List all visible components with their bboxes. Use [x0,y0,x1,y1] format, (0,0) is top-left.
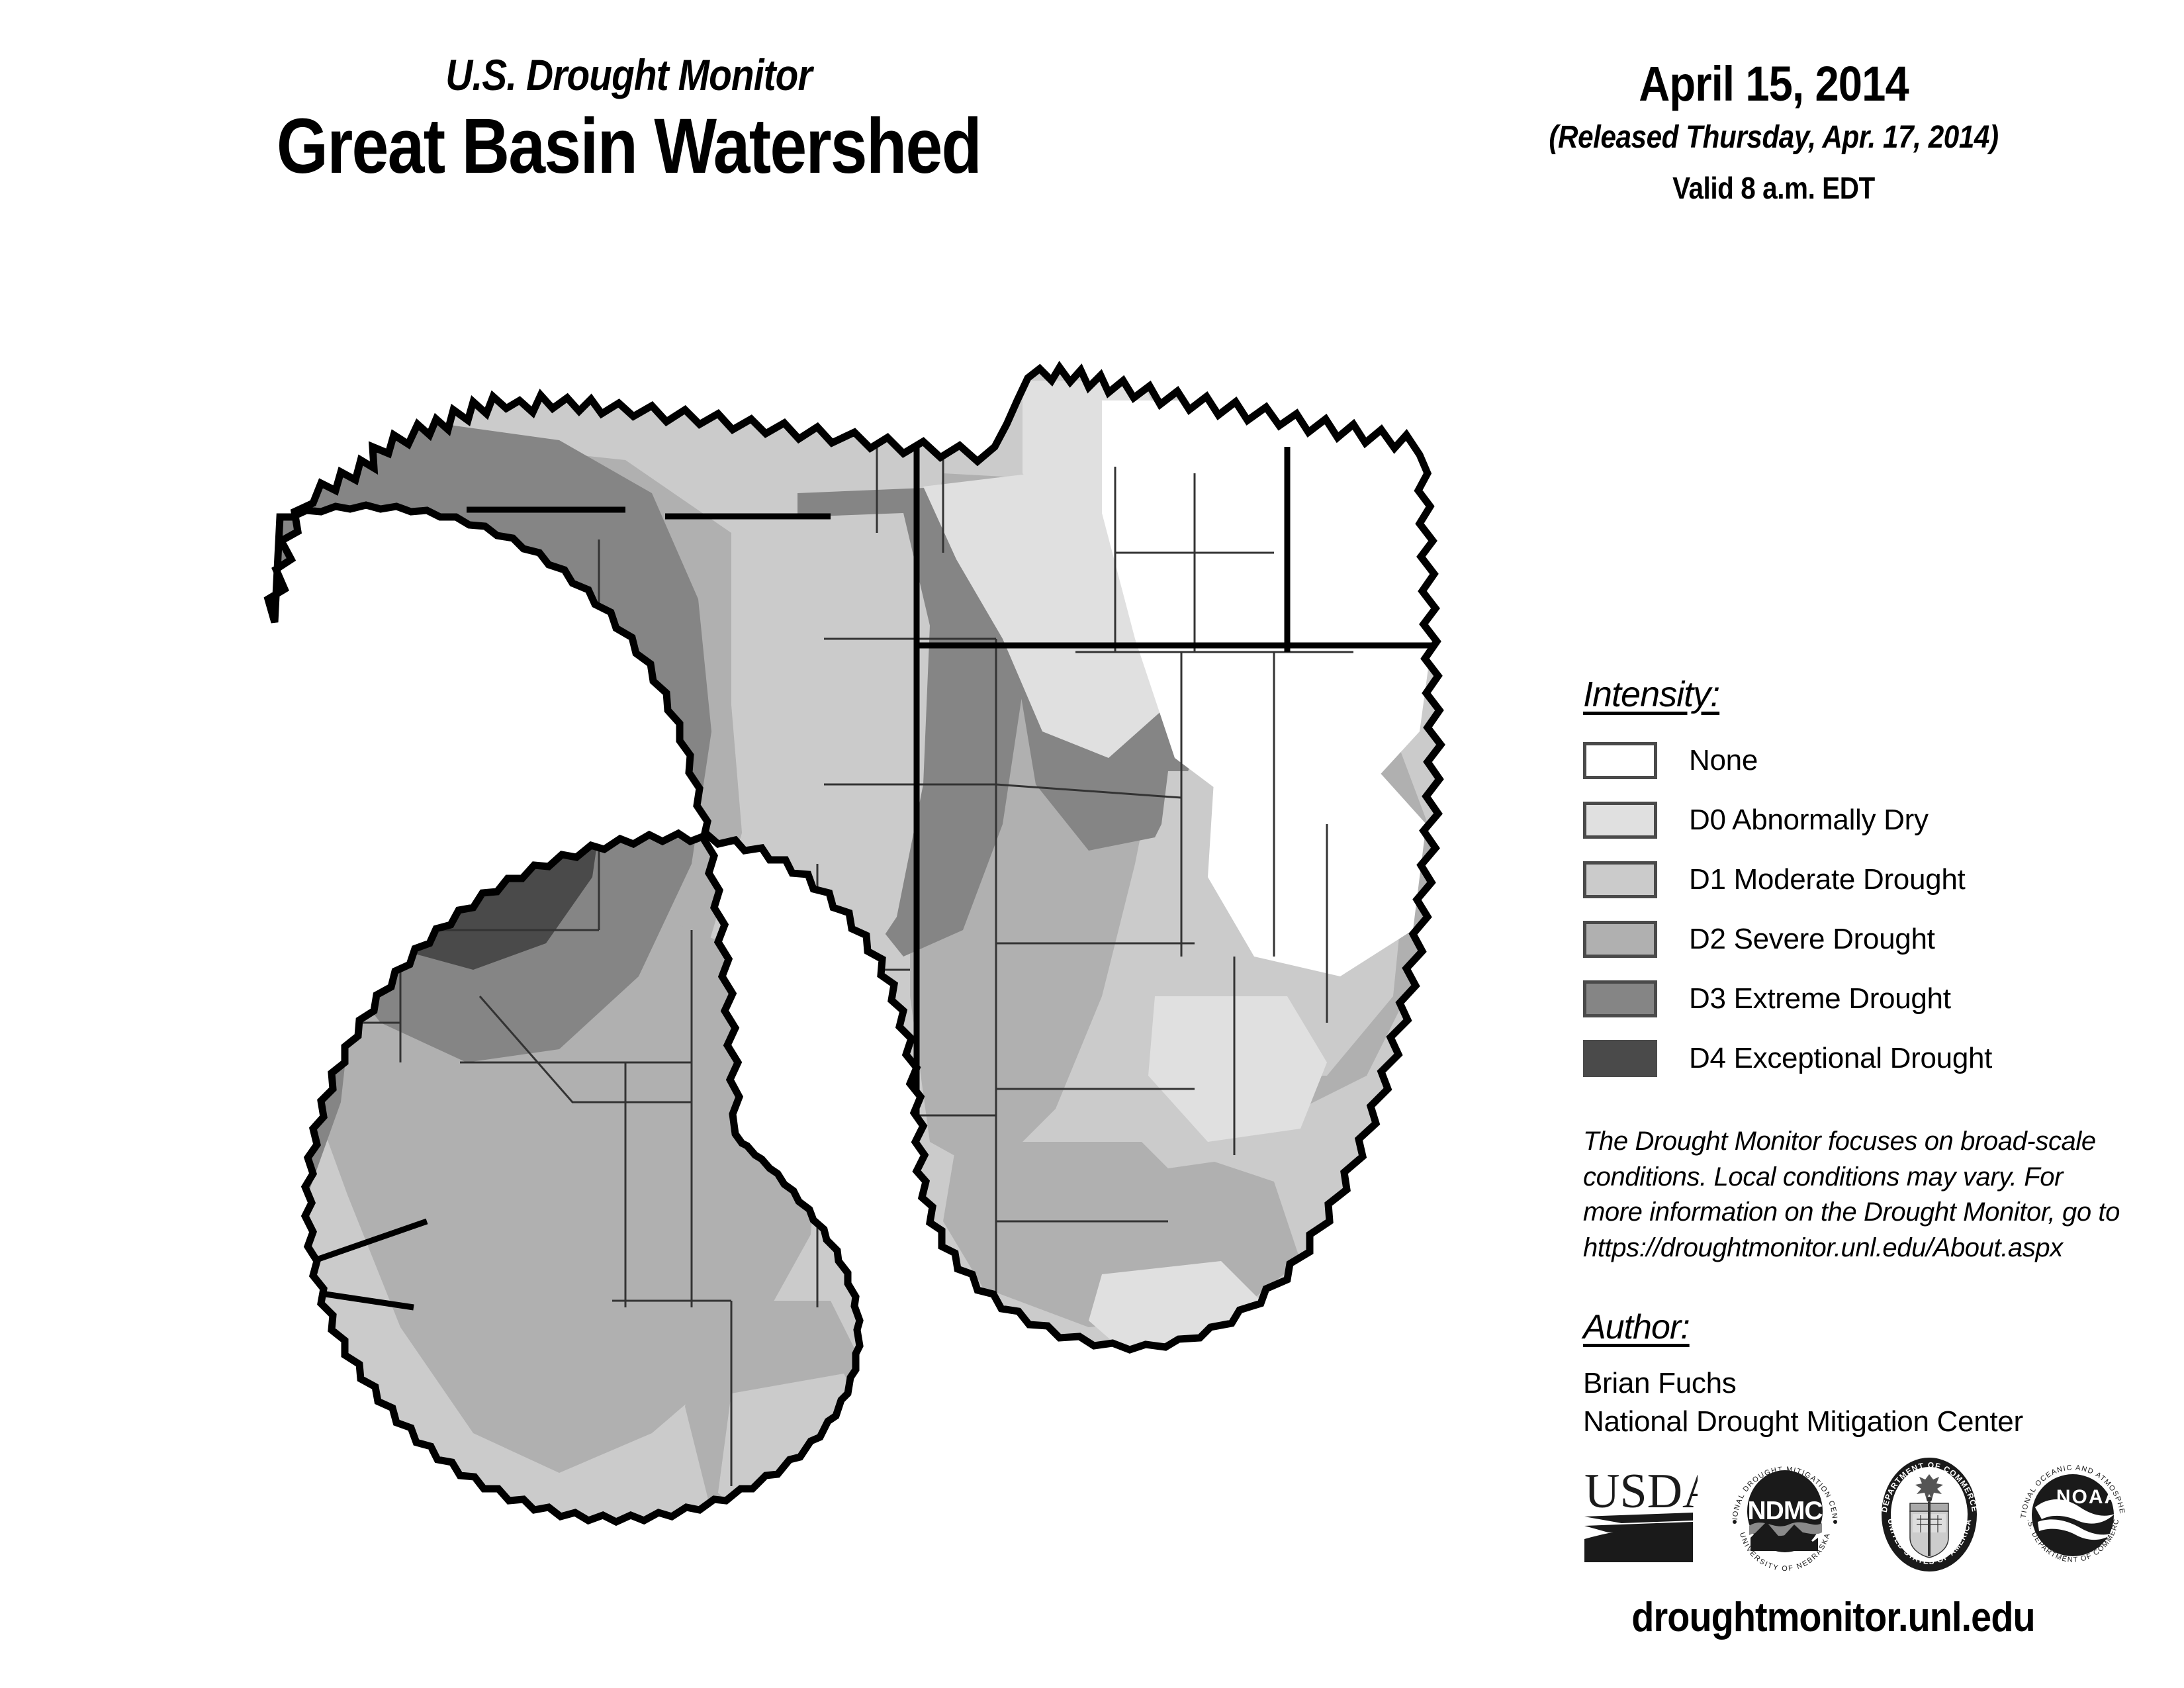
usda-logo-text: USDA [1584,1464,1698,1519]
legend-swatch-d2 [1583,921,1657,958]
svg-text:★: ★ [1958,1511,1967,1522]
ndmc-logo: NDMC NATIONAL DROUGHT MITIGATION CENTER … [1725,1456,1844,1577]
header-date-block: April 15, 2014 (Released Thursday, Apr. … [1443,58,2105,206]
legend-swatch-d1 [1583,861,1657,898]
legend-label-d1: D1 Moderate Drought [1689,863,1965,896]
release-date: (Released Thursday, Apr. 17, 2014) [1482,119,2065,156]
svg-text:★: ★ [1893,1511,1901,1522]
drought-monitor-subtitle: U.S. Drought Monitor [88,53,1169,97]
legend-swatch-none [1583,742,1657,779]
ndmc-logo-text: NDMC [1747,1497,1823,1525]
logo-row: USDA NDMC NATIONAL DROUGHT MITIGATION CE… [1582,1450,2131,1582]
drought-map[interactable] [162,361,1479,1546]
usda-logo: USDA [1582,1460,1698,1572]
legend-item-d4[interactable]: D4 Exceptional Drought [1583,1035,2113,1082]
legend-item-none[interactable]: None [1583,737,2113,784]
noaa-logo: NOAA NATIONAL OCEANIC AND ATMOSPHERIC U.… [2015,1456,2131,1577]
map-date: April 15, 2014 [1482,58,2065,110]
footer-url[interactable]: droughtmonitor.unl.edu [1571,1594,2095,1641]
legend-swatch-d0 [1583,802,1657,839]
header-title-block: U.S. Drought Monitor Great Basin Watersh… [0,53,1257,188]
author-name: Brian Fuchs [1583,1364,2126,1403]
legend-item-d0[interactable]: D0 Abnormally Dry [1583,797,2113,843]
legend-label-d3: D3 Extreme Drought [1689,982,1951,1015]
legend-label-d2: D2 Severe Drought [1689,923,1935,956]
author-heading: Author: [1583,1307,1690,1347]
legend-label-d0: D0 Abnormally Dry [1689,804,1929,837]
author-block: Author: Brian Fuchs National Drought Mit… [1583,1307,2126,1441]
legend-item-d2[interactable]: D2 Severe Drought [1583,916,2113,962]
doc-seal-logo: DEPARTMENT OF COMMERCE UNITED STATES OF … [1872,1456,1987,1577]
legend-swatch-d4 [1583,1040,1657,1077]
legend-item-d3[interactable]: D3 Extreme Drought [1583,976,2113,1022]
valid-time: Valid 8 a.m. EDT [1482,170,2065,206]
legend-item-d1[interactable]: D1 Moderate Drought [1583,857,2113,903]
legend-label-none: None [1689,744,1758,777]
legend-swatch-d3 [1583,980,1657,1017]
author-affiliation: National Drought Mitigation Center [1583,1403,2126,1441]
legend-title: Intensity: [1583,674,1719,715]
legend: Intensity: None D0 Abnormally Dry D1 Mod… [1583,674,2113,1095]
legend-label-d4: D4 Exceptional Drought [1689,1042,1992,1075]
disclaimer-text: The Drought Monitor focuses on broad-sca… [1583,1124,2126,1266]
page-title: Great Basin Watershed [95,106,1163,188]
